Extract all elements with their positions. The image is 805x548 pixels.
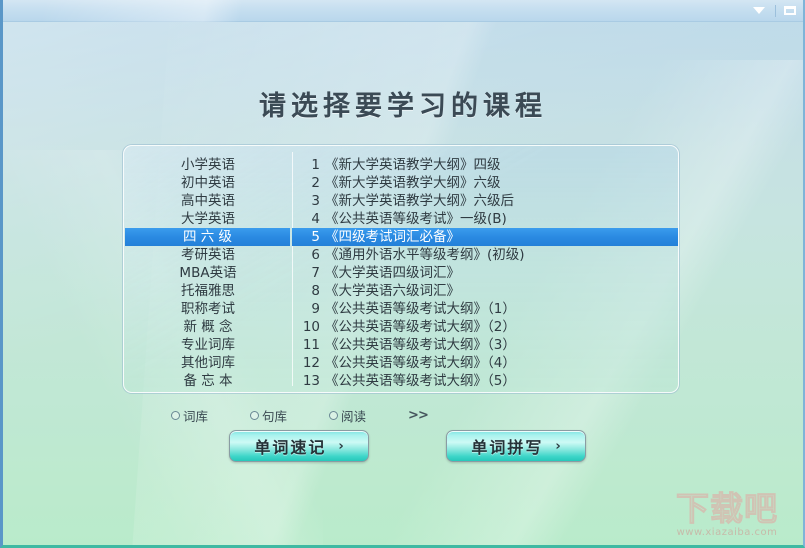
book-item-label: 《通用外语水平等级考纲》(初级) (325, 246, 525, 264)
category-item[interactable]: 备 忘 本 (124, 372, 292, 390)
option-label: 句库 (262, 406, 287, 425)
option-label: 阅读 (341, 406, 366, 425)
book-item-index: 4 (300, 210, 320, 228)
book-item-index: 13 (300, 372, 320, 390)
book-item-label: 《公共英语等级考试大纲》（3） (325, 336, 516, 354)
category-item-label: 四 六 级 (183, 228, 232, 246)
word-spelling-button[interactable]: 单词拼写 › (446, 430, 586, 462)
book-item-label: 《大学英语四级词汇》 (325, 264, 460, 282)
category-item[interactable]: 大学英语 (124, 210, 292, 228)
word-speed-memo-button[interactable]: 单词速记 › (229, 430, 369, 462)
book-item-index: 8 (300, 282, 320, 300)
category-item-label: 其他词库 (181, 354, 235, 372)
category-item-label: 托福雅思 (181, 282, 235, 300)
word-spelling-label: 单词拼写 (471, 434, 543, 458)
book-item-index: 11 (300, 336, 320, 354)
category-item-label: MBA英语 (179, 264, 236, 282)
book-item-label: 《公共英语等级考试大纲》（4） (325, 354, 516, 372)
radio-icon (329, 411, 338, 420)
category-item[interactable]: 托福雅思 (124, 282, 292, 300)
application-window: 请选择要学习的课程 小学英语初中英语高中英语大学英语四 六 级考研英语MBA英语… (0, 0, 805, 548)
book-item-label: 《新大学英语教学大纲》六级 (325, 174, 501, 192)
category-item-label: 考研英语 (181, 246, 235, 264)
page-title: 请选择要学习的课程 (3, 84, 803, 123)
book-item[interactable]: 10《公共英语等级考试大纲》（2） (292, 318, 678, 336)
word-speed-memo-label: 单词速记 (254, 434, 326, 458)
book-item[interactable]: 9《公共英语等级考试大纲》（1） (292, 300, 678, 318)
book-item-label: 《公共英语等级考试》一级(B) (325, 210, 507, 228)
book-list[interactable]: 1《新大学英语教学大纲》四级2《新大学英语教学大纲》六级3《新大学英语教学大纲》… (292, 146, 678, 392)
book-item[interactable]: 3《新大学英语教学大纲》六级后 (292, 192, 678, 210)
category-item-label: 高中英语 (181, 192, 235, 210)
book-item[interactable]: 8《大学英语六级词汇》 (292, 282, 678, 300)
book-item[interactable]: 13《公共英语等级考试大纲》（5） (292, 372, 678, 390)
category-item[interactable]: 专业词库 (124, 336, 292, 354)
restore-window-button[interactable] (779, 2, 801, 20)
radio-icon (171, 411, 180, 420)
book-item-index: 3 (300, 192, 320, 210)
category-item[interactable]: 其他词库 (124, 354, 292, 372)
book-item[interactable]: 2《新大学英语教学大纲》六级 (292, 174, 678, 192)
category-item-label: 初中英语 (181, 174, 235, 192)
title-bar-sheen (43, 0, 403, 22)
chevron-down-icon (753, 7, 765, 14)
category-item[interactable]: 四 六 级 (125, 228, 290, 246)
book-item[interactable]: 1《新大学英语教学大纲》四级 (292, 156, 678, 174)
book-item-index: 5 (300, 228, 320, 246)
title-bar (3, 0, 803, 22)
category-item[interactable]: 小学英语 (124, 156, 292, 174)
book-item[interactable]: 12《公共英语等级考试大纲》（4） (292, 354, 678, 372)
book-item-index: 1 (300, 156, 320, 174)
category-item[interactable]: 职称考试 (124, 300, 292, 318)
book-item-label: 《四级考试词汇必备》 (325, 228, 460, 246)
book-item[interactable]: 5《四级考试词汇必备》 (292, 228, 678, 246)
book-item-index: 2 (300, 174, 320, 192)
book-item[interactable]: 4《公共英语等级考试》一级(B) (292, 210, 678, 228)
book-item-index: 10 (300, 318, 320, 336)
category-item-label: 新 概 念 (183, 318, 232, 336)
book-item-index: 9 (300, 300, 320, 318)
book-item-index: 12 (300, 354, 320, 372)
book-item[interactable]: 11《公共英语等级考试大纲》（3） (292, 336, 678, 354)
category-item-label: 备 忘 本 (183, 372, 232, 390)
category-item-label: 职称考试 (181, 300, 235, 318)
book-item-label: 《公共英语等级考试大纲》（1） (325, 300, 516, 318)
category-item[interactable]: 初中英语 (124, 174, 292, 192)
chevron-right-icon: › (555, 439, 560, 454)
book-item-label: 《公共英语等级考试大纲》（2） (325, 318, 516, 336)
watermark-logo: 下载吧 (657, 491, 797, 527)
book-item[interactable]: 7《大学英语四级词汇》 (292, 264, 678, 282)
category-item-label: 大学英语 (181, 210, 235, 228)
title-bar-separator (775, 5, 776, 17)
book-item-label: 《大学英语六级词汇》 (325, 282, 460, 300)
book-item-label: 《新大学英语教学大纲》六级后 (325, 192, 514, 210)
option-3[interactable]: 阅读 (329, 406, 366, 425)
option-1[interactable]: 词库 (171, 406, 208, 425)
chevron-right-icon: › (338, 439, 343, 454)
option-label: 词库 (183, 406, 208, 425)
book-item-index: 6 (300, 246, 320, 264)
book-item-label: 《公共英语等级考试大纲》（5） (325, 372, 516, 390)
category-item[interactable]: MBA英语 (124, 264, 292, 282)
minimize-button[interactable] (748, 2, 770, 20)
radio-icon (250, 411, 259, 420)
watermark-url: www.xiazaiba.com (657, 527, 797, 539)
category-item[interactable]: 新 概 念 (124, 318, 292, 336)
watermark: 下载吧 www.xiazaiba.com (657, 491, 797, 543)
option-2[interactable]: 句库 (250, 406, 287, 425)
category-list[interactable]: 小学英语初中英语高中英语大学英语四 六 级考研英语MBA英语托福雅思职称考试新 … (124, 146, 292, 392)
book-item-label: 《新大学英语教学大纲》四级 (325, 156, 501, 174)
category-item[interactable]: 高中英语 (124, 192, 292, 210)
restore-window-icon (784, 6, 796, 15)
category-item[interactable]: 考研英语 (124, 246, 292, 264)
book-item[interactable]: 6《通用外语水平等级考纲》(初级) (292, 246, 678, 264)
more-options-button[interactable]: >> (408, 408, 428, 423)
category-item-label: 小学英语 (181, 156, 235, 174)
category-item-label: 专业词库 (181, 336, 235, 354)
content-type-options: 词库句库阅读>> (171, 406, 428, 425)
book-item-index: 7 (300, 264, 320, 282)
course-selection-panel: 小学英语初中英语高中英语大学英语四 六 级考研英语MBA英语托福雅思职称考试新 … (123, 145, 679, 393)
